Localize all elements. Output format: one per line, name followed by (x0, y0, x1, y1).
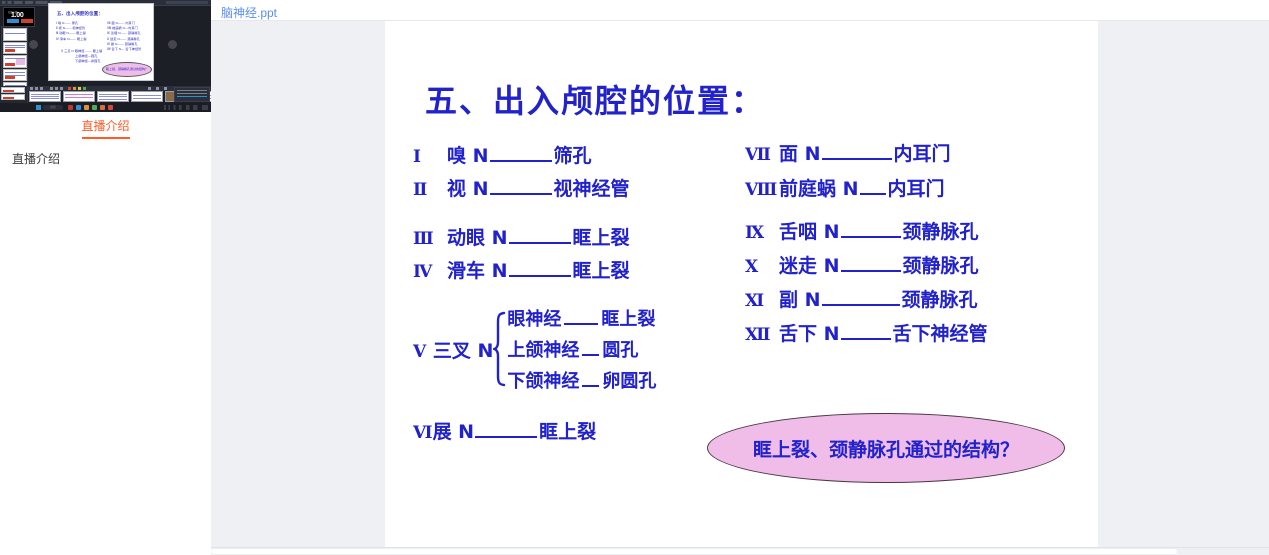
curly-brace-icon (493, 311, 506, 387)
nerve-target-name: 视神经管 (554, 174, 630, 201)
ribbon-color-swatch[interactable] (83, 87, 86, 90)
taskbar-search-box[interactable]: 搜索 (43, 105, 63, 110)
preview-slide-title: 五、出入颅腔的位置： (57, 11, 103, 17)
nerve-row: Ⅲ动眼 N眶上裂 (413, 223, 763, 250)
left-panel-content: 直播介绍 (0, 141, 211, 555)
slide-thumbnail-item[interactable] (3, 69, 27, 82)
live-intro-text: 直播介绍 (12, 150, 199, 168)
ribbon-color-swatch[interactable] (68, 87, 71, 90)
taskbar-system-tray[interactable] (164, 105, 208, 110)
nerve-target-name: 筛孔 (554, 141, 592, 168)
overlay-blue-button[interactable] (7, 19, 19, 23)
connector-dash (490, 193, 552, 195)
page-title: 五、出入颅腔的位置： (425, 76, 765, 122)
nerve-target-name: 眶上裂 (539, 417, 596, 444)
trigeminal-branch-list: 眼神经眶上裂上颌神经圆孔下颌神经卵圆孔 (507, 305, 656, 393)
nerve-row: Ⅺ副 N颈静脉孔 (745, 285, 1085, 312)
nerve-roman-numeral: Ⅰ (413, 147, 447, 167)
connector-dash (822, 304, 900, 306)
ribbon-icon[interactable] (35, 87, 38, 90)
preview-trigeminal-group: Ⅴ 三叉 N 眼神经 —— 眶上裂 上颌神经—圆孔 下颌神经—卵圆孔 (61, 49, 101, 65)
powerpoint-filmstrip-area (0, 86, 211, 103)
ribbon-icon[interactable] (148, 87, 151, 90)
taskbar-app-icon[interactable] (68, 105, 73, 110)
branch-target-name: 卵圆孔 (602, 367, 656, 393)
shared-slide-preview: 五、出入颅腔的位置： Ⅰ 嗅 N—— 筛孔 Ⅱ 视 N—— 视神经管 Ⅲ 动眼 … (48, 3, 154, 81)
nerve-roman-numeral: Ⅹ (745, 257, 779, 277)
connector-dash (841, 338, 891, 340)
viewer-header: 脑神经.ppt (211, 0, 1269, 21)
connector-dash (475, 436, 537, 438)
trigeminal-name: 三叉 N (433, 340, 494, 362)
nerve-roman-numeral: Ⅲ (413, 229, 447, 249)
windows-taskbar: 搜索 (0, 103, 211, 112)
nerve-source-name: 迷走 N (779, 251, 840, 278)
nerve-target-name: 内耳门 (888, 174, 945, 201)
branch-target-name: 圆孔 (602, 336, 638, 362)
windows-start-icon[interactable] (36, 105, 41, 110)
viewer-count-number: 1.00 (11, 12, 23, 19)
connector-dash (509, 242, 571, 244)
filmstrip-left-thumbnails[interactable] (0, 86, 28, 103)
nerve-target-name: 眶上裂 (573, 223, 630, 250)
branch-source-name: 眼神经 (507, 305, 561, 331)
nerve-roman-numeral: Ⅺ (745, 291, 779, 311)
connector-dash (841, 270, 901, 272)
horizontal-scrollbar-thumb[interactable] (211, 549, 1177, 554)
document-viewer: 脑神经.ppt 五、出入颅腔的位置： Ⅰ嗅 N筛孔Ⅱ视 N视神经管Ⅲ动眼 N眶上… (211, 0, 1269, 555)
tab-live-intro[interactable]: 直播介绍 (81, 117, 129, 139)
viewer-count-overlay: 在线人数 1.00 (3, 7, 35, 27)
nerve-target-name: 颈静脉孔 (903, 251, 979, 278)
ribbon-icon[interactable] (164, 87, 167, 90)
connector-dash (841, 236, 901, 238)
trigeminal-label: Ⅴ 三叉 N (413, 336, 493, 363)
connector-dash (564, 323, 598, 325)
connector-dash (509, 275, 571, 277)
file-name-link[interactable]: 脑神经.ppt (221, 4, 277, 21)
taskbar-app-icon[interactable] (92, 105, 97, 110)
filmstrip-slide[interactable] (97, 91, 129, 102)
ribbon-icon[interactable] (50, 87, 53, 90)
taskbar-powerpoint-icon[interactable] (108, 105, 113, 110)
taskbar-app-icon[interactable] (84, 105, 89, 110)
ribbon-icon[interactable] (156, 87, 159, 90)
slide-thumbnail-item[interactable] (3, 28, 27, 41)
prev-slide-arrow-icon[interactable] (29, 40, 38, 49)
nerve-roman-numeral: Ⅻ (745, 325, 779, 345)
preview-line: Ⅻ 舌下 N— 舌下神经管 (107, 47, 153, 52)
preview-right-column: Ⅶ 面 N—— 内耳门 Ⅷ 前庭蜗 N—内耳门 Ⅸ 舌咽 N—— 颈静脉孔 Ⅹ … (107, 21, 153, 52)
left-panel-tabbar: 直播介绍 (0, 112, 211, 142)
branch-source-name: 上颌神经 (507, 336, 579, 362)
connector-dash (582, 354, 599, 356)
filmstrip-slide[interactable] (131, 91, 163, 102)
nerve-roman-numeral: Ⅳ (413, 262, 447, 282)
nerve-target-name: 舌下神经管 (893, 319, 988, 346)
slide-thumbnail-item[interactable] (1, 87, 25, 93)
nerve-row-vi: Ⅵ展 N眶上裂 (413, 417, 753, 452)
connector-dash (860, 193, 886, 195)
nerve-target-name: 颈静脉孔 (903, 217, 979, 244)
taskbar-app-icon[interactable] (76, 105, 81, 110)
nerve-target-name: 内耳门 (894, 139, 951, 166)
left-panel: 五、出入颅腔的位置： Ⅰ 嗅 N—— 筛孔 Ⅱ 视 N—— 视神经管 Ⅲ 动眼 … (0, 0, 212, 555)
ribbon-icon[interactable] (55, 87, 58, 90)
slide-thumbnail-item[interactable] (3, 42, 27, 55)
nerve-row: Ⅶ面 N内耳门 (745, 139, 1085, 166)
tab-live-intro-label: 直播介绍 (81, 119, 129, 133)
nerve-source-name: 视 N (447, 174, 489, 201)
ribbon-color-swatch[interactable] (78, 87, 81, 90)
ribbon-icon[interactable] (40, 87, 43, 90)
ribbon-color-swatch[interactable] (73, 87, 76, 90)
preview-line: 下颌神经—卵圆孔 (61, 59, 101, 64)
trigeminal-roman: Ⅴ (413, 342, 426, 362)
nerve-roman-numeral: Ⅸ (745, 223, 779, 243)
question-callout-ellipse: 眶上裂、颈静脉孔通过的结构？ (707, 413, 1065, 483)
ribbon-icon[interactable] (30, 87, 33, 90)
ribbon-icon[interactable] (60, 87, 63, 90)
nerve-row: Ⅱ视 N视神经管 (413, 174, 763, 201)
nerve-source-name: 展 N (433, 417, 475, 444)
branch-target-name: 眶上裂 (601, 305, 655, 331)
nerve-row: Ⅹ迷走 N颈静脉孔 (745, 251, 1085, 278)
preview-left-column: Ⅰ 嗅 N—— 筛孔 Ⅱ 视 N—— 视神经管 Ⅲ 动眼 N—— 眶上裂 Ⅳ 滑… (56, 21, 104, 42)
nerve-source-name: 面 N (779, 139, 821, 166)
nerve-source-name: 副 N (779, 285, 821, 312)
trigeminal-branch-row: 上颌神经圆孔 (507, 336, 656, 362)
filmstrip-slide[interactable] (29, 91, 61, 102)
nerve-list-right: Ⅶ面 N内耳门Ⅷ前庭蜗 N内耳门Ⅸ舌咽 N颈静脉孔Ⅹ迷走 N颈静脉孔Ⅺ副 N颈静… (745, 139, 1085, 354)
nerve-source-name: 嗅 N (447, 141, 489, 168)
preview-line: Ⅳ 滑车 N—— 眶上裂 (56, 37, 104, 42)
question-callout-text: 眶上裂、颈静脉孔通过的结构？ (753, 435, 1019, 462)
trigeminal-branch-row: 下颌神经卵圆孔 (507, 367, 656, 393)
preview-question-ellipse: 眶上裂、颈静脉孔通过的结构？ (102, 62, 152, 77)
next-slide-arrow-icon[interactable] (168, 40, 177, 49)
overlay-red-button[interactable] (21, 19, 33, 23)
filmstrip-slide[interactable] (63, 91, 95, 102)
nerve-row: Ⅵ展 N眶上裂 (413, 417, 753, 444)
nerve-roman-numeral: Ⅵ (413, 423, 433, 443)
nerve-roman-numeral: Ⅷ (745, 180, 779, 200)
nerve-row: Ⅰ嗅 N筛孔 (413, 141, 763, 168)
tab-active-underline (81, 137, 129, 139)
slide-thumbnail-item[interactable] (1, 94, 25, 100)
nerve-source-name: 动眼 N (447, 223, 508, 250)
connector-dash (490, 160, 552, 162)
nerve-source-name: 滑车 N (447, 256, 508, 283)
nerve-target-name: 颈静脉孔 (902, 285, 978, 312)
live-video-player[interactable]: 五、出入颅腔的位置： Ⅰ 嗅 N—— 筛孔 Ⅱ 视 N—— 视神经管 Ⅲ 动眼 … (0, 0, 211, 112)
nerve-target-name: 眶上裂 (573, 256, 630, 283)
nerve-source-name: 舌咽 N (779, 217, 840, 244)
slide-thumbnail-item[interactable] (3, 55, 27, 68)
nerve-row: Ⅷ前庭蜗 N内耳门 (745, 174, 1085, 201)
nerve-source-name: 舌下 N (779, 319, 840, 346)
nerve-list-left: Ⅰ嗅 N筛孔Ⅱ视 N视神经管Ⅲ动眼 N眶上裂Ⅳ滑车 N眶上裂 (413, 141, 763, 293)
trigeminal-nerve-group: Ⅴ 三叉 N 眼神经眶上裂上颌神经圆孔下颌神经卵圆孔 (413, 305, 753, 393)
branch-source-name: 下颌神经 (507, 367, 579, 393)
nerve-row: Ⅸ舌咽 N颈静脉孔 (745, 217, 1085, 244)
trigeminal-branch-row: 眼神经眶上裂 (507, 305, 656, 331)
taskbar-app-icon[interactable] (100, 105, 105, 110)
nerve-row: Ⅳ滑车 N眶上裂 (413, 256, 763, 283)
nerve-roman-numeral: Ⅶ (745, 145, 779, 165)
connector-dash (582, 385, 599, 387)
connector-dash (822, 158, 892, 160)
slide-page: 五、出入颅腔的位置： Ⅰ嗅 N筛孔Ⅱ视 N视神经管Ⅲ动眼 N眶上裂Ⅳ滑车 N眶上… (385, 21, 1098, 548)
presenter-notes-pane (174, 87, 210, 102)
nerve-roman-numeral: Ⅱ (413, 180, 447, 200)
nerve-source-name: 前庭蜗 N (779, 174, 859, 201)
horizontal-scrollbar[interactable] (211, 547, 1269, 555)
nerve-row: Ⅻ舌下 N舌下神经管 (745, 319, 1085, 346)
titlebar-window-controls (166, 1, 208, 4)
